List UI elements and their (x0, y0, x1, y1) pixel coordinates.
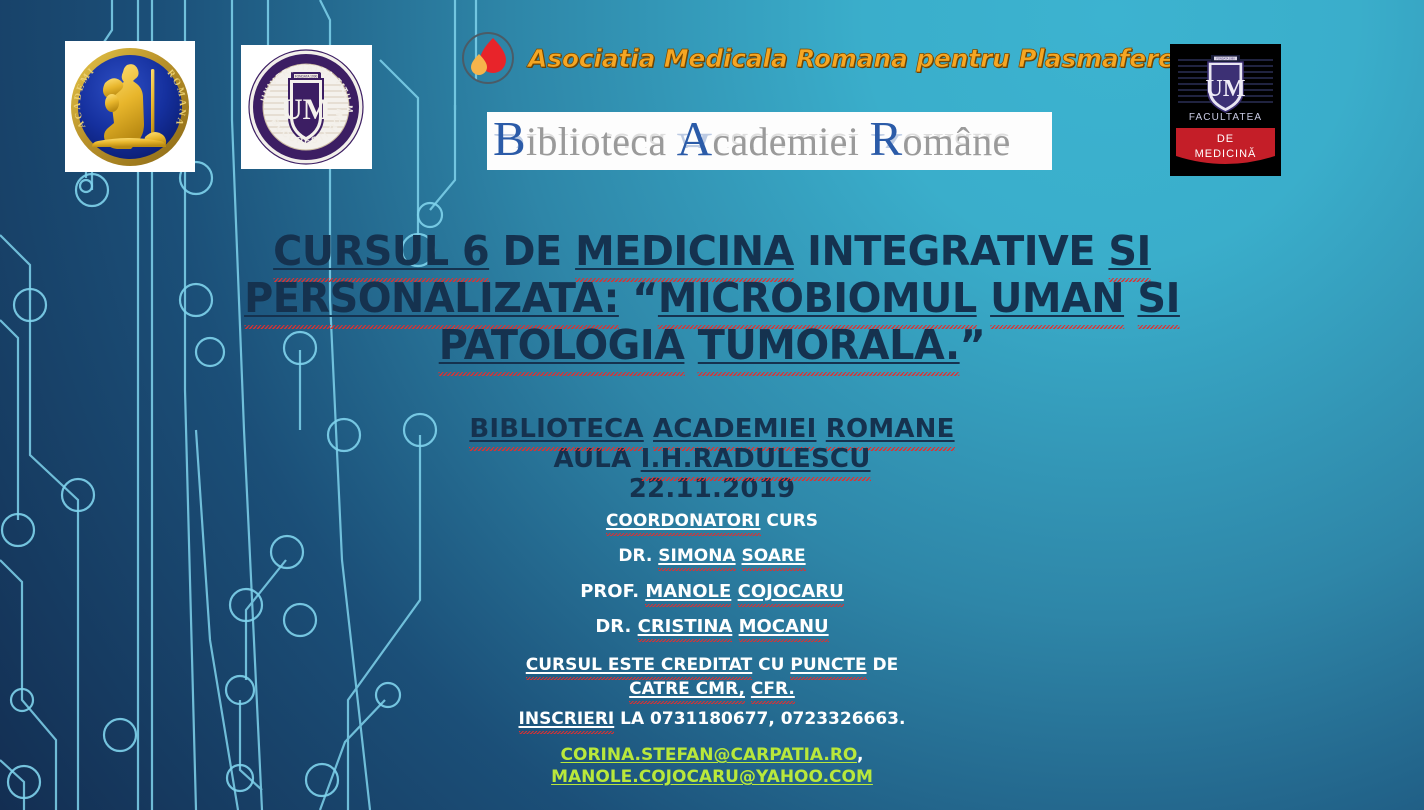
space (736, 546, 742, 566)
association-lockup: Asociatia Medicala Romana pentru Plasmaf… (460, 27, 1206, 89)
presentation-slide: . ACADEMIA ROMANA (0, 0, 1424, 810)
facultatea-de-medicina-logo: FONDATA 1990 UM FACULTATEA DE MEDICINĂ (1170, 44, 1281, 176)
email-link-1[interactable]: CORINA.STEFAN@CARPATIA.RO (561, 745, 857, 765)
venue-block: BIBLIOTECA ACADEMIEI ROMANE AULA I.H.RAD… (0, 414, 1424, 504)
credit-seg: CATRE CMR, (629, 679, 745, 699)
venue-seg: BIBLIOTECA (469, 414, 643, 444)
title-line-3: PATOLOGIA TUMORALA.” (21, 322, 1402, 369)
person-title: DR. (595, 616, 637, 637)
title-seg: MEDICINA (575, 227, 794, 275)
banner-reflection: Biblioteca Academiei Române (487, 122, 1052, 148)
credit-line-2: CATRE CMR, CFR. (0, 677, 1424, 701)
credit-seg: CU (752, 655, 790, 675)
biblioteca-academiei-romane-banner: Biblioteca Academiei Române Biblioteca A… (487, 112, 1052, 170)
title-seg: DE (489, 227, 575, 275)
title-seg: MICROBIOMUL (658, 274, 977, 322)
coordinator-2: PROF. MANOLE COJOCARU (0, 581, 1424, 602)
space (732, 616, 738, 637)
svg-text:FONDATA 1990: FONDATA 1990 (295, 75, 318, 79)
title-seg: PATOLOGIA (439, 321, 685, 369)
universitatea-titu-maiorescu-logo: FONDATA 1990 UM UNIVERSITATEA TITU MAIOR… (241, 45, 372, 169)
title-line-1: CURSUL 6 DE MEDICINA INTEGRATIVE SI (21, 228, 1402, 275)
venue-line-2: AULA I.H.RADULESCU (0, 444, 1424, 474)
contact-emails: CORINA.STEFAN@CARPATIA.RO, MANOLE.COJOCA… (0, 744, 1424, 788)
person-first-name: MANOLE (645, 581, 731, 602)
person-last-name: COJOCARU (738, 581, 844, 602)
venue-seg (816, 414, 825, 444)
header: . ACADEMIA ROMANA (0, 0, 1424, 190)
page-title: CURSUL 6 DE MEDICINA INTEGRATIVE SI PERS… (21, 228, 1402, 369)
credit-seg: DE (867, 655, 899, 675)
registration-info: INSCRIERI LA 0731180677, 0723326663. (0, 709, 1424, 729)
person-first-name: CRISTINA (638, 616, 733, 637)
coordinator-1: DR. SIMONA SOARE (0, 546, 1424, 566)
svg-text:FACULTATEA: FACULTATEA (1189, 112, 1262, 123)
person-title: DR. (618, 546, 658, 566)
title-seg: TUMORALA. (698, 321, 960, 369)
title-seg: PERSONALIZATA: (244, 274, 619, 322)
person-title: PROF. (580, 581, 645, 602)
title-seg: UMAN (990, 274, 1124, 322)
title-seg: INTEGRATIVE (794, 227, 1109, 275)
title-seg (977, 274, 990, 322)
title-seg: SI (1108, 227, 1150, 275)
coordinator-3: DR. CRISTINA MOCANU (0, 616, 1424, 637)
blood-drop-icon (460, 30, 516, 86)
title-seg: CURSUL 6 (273, 227, 489, 275)
title-line-2: PERSONALIZATA: “MICROBIOMUL UMAN SI (21, 275, 1402, 322)
venue-hall: I.H.RADULESCU (641, 444, 871, 474)
email-link-2[interactable]: MANOLE.COJOCARU@YAHOO.COM (551, 767, 873, 787)
person-last-name: SOARE (742, 546, 806, 566)
coordinators-word: CURS (761, 511, 819, 531)
person-last-name: MOCANU (739, 616, 829, 637)
svg-text:MEDICINĂ: MEDICINĂ (1195, 147, 1257, 160)
credit-seg: PUNCTE (790, 655, 866, 675)
registration-label: INSCRIERI (519, 709, 615, 729)
association-name: Asociatia Medicala Romana pentru Plasmaf… (528, 44, 1206, 73)
academia-romana-logo: . ACADEMIA ROMANA (65, 41, 195, 172)
coordinators-label: COORDONATORI CURS (0, 511, 1424, 531)
registration-phones: LA 0731180677, 0723326663. (614, 709, 905, 729)
venue-seg: ROMANE (826, 414, 955, 444)
svg-text:DE: DE (1217, 133, 1234, 145)
venue-line-1: BIBLIOTECA ACADEMIEI ROMANE (0, 414, 1424, 444)
person-first-name: SIMONA (658, 546, 735, 566)
svg-text:FONDATA 1990: FONDATA 1990 (1216, 57, 1235, 61)
email-separator: , (857, 745, 863, 765)
credit-line-1: CURSUL ESTE CREDITAT CU PUNCTE DE (0, 653, 1424, 677)
title-seg: SI (1137, 274, 1179, 322)
space (731, 581, 737, 602)
credit-seg: CFR. (751, 679, 795, 699)
svg-text:UM: UM (1206, 76, 1246, 102)
credit-seg: CURSUL ESTE CREDITAT (526, 655, 752, 675)
credit-seg (745, 679, 751, 699)
venue-seg: ACADEMIEI (653, 414, 816, 444)
coordinators-word: COORDONATORI (606, 511, 761, 531)
svg-text:UM: UM (281, 93, 331, 126)
venue-seg (644, 414, 653, 444)
credit-note: CURSUL ESTE CREDITAT CU PUNCTE DE CATRE … (0, 653, 1424, 701)
